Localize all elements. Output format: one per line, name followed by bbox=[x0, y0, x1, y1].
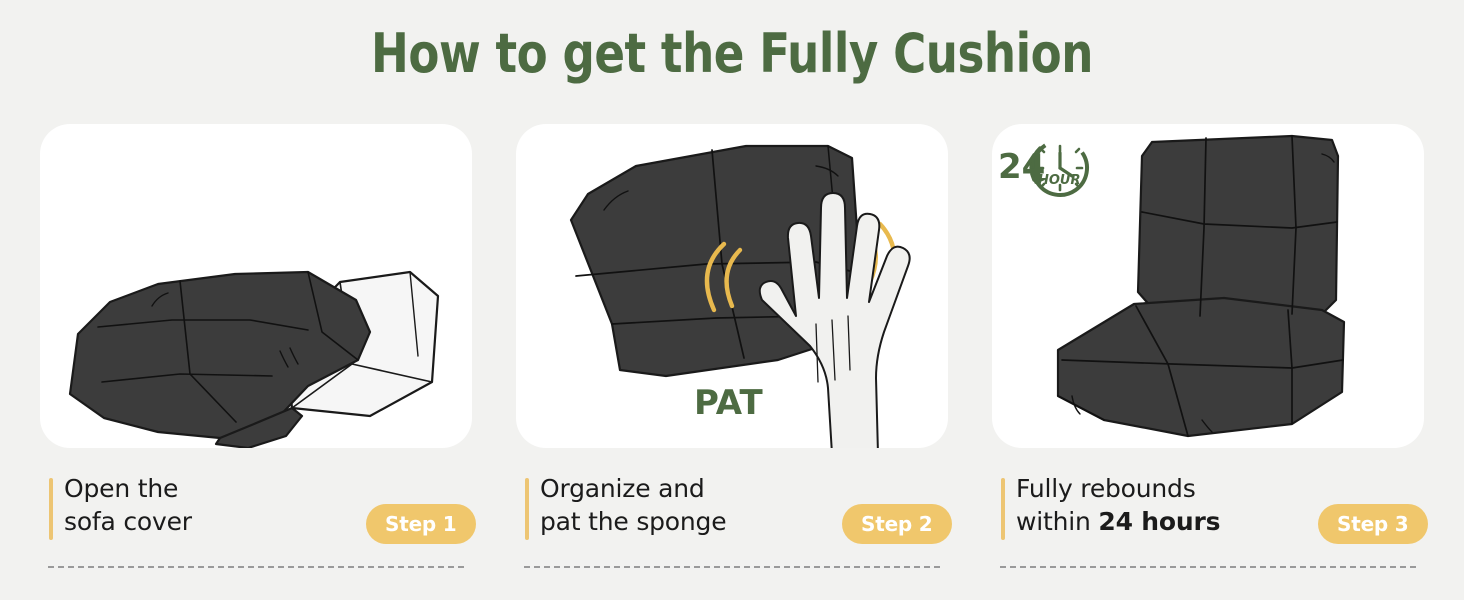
step-captions: Open the sofa cover Step 1 Organize and … bbox=[40, 470, 1424, 580]
caption-divider bbox=[524, 566, 940, 568]
accent-bar bbox=[49, 478, 53, 540]
infographic-page: How to get the Fully Cushion bbox=[0, 0, 1464, 600]
caption-line-2-prefix: within bbox=[1016, 507, 1098, 536]
caption-line-2: sofa cover bbox=[64, 507, 192, 536]
caption-text-step-1: Open the sofa cover bbox=[64, 472, 192, 538]
caption-divider bbox=[48, 566, 464, 568]
illustration-cards: PAT bbox=[40, 124, 1424, 448]
caption-step-3: Fully rebounds within 24 hours Step 3 bbox=[992, 470, 1424, 580]
clock-unit: HOUR bbox=[1038, 173, 1081, 188]
badge-step-3[interactable]: Step 3 bbox=[1318, 504, 1428, 544]
caption-line-1: Fully rebounds bbox=[1016, 474, 1196, 503]
card-step-1 bbox=[40, 124, 472, 448]
caption-step-1: Open the sofa cover Step 1 bbox=[40, 470, 472, 580]
badge-step-2[interactable]: Step 2 bbox=[842, 504, 952, 544]
caption-divider bbox=[1000, 566, 1416, 568]
caption-line-2-bold: 24 hours bbox=[1098, 507, 1220, 536]
clock-24-hour-icon: 24 HOUR bbox=[998, 130, 1098, 205]
caption-step-2: Organize and pat the sponge Step 2 bbox=[516, 470, 948, 580]
hand-patting-cushion-illustration: PAT bbox=[516, 124, 948, 448]
caption-line-1: Organize and bbox=[540, 474, 705, 503]
accent-bar bbox=[525, 478, 529, 540]
caption-line-2: pat the sponge bbox=[540, 507, 726, 536]
card-step-2: PAT bbox=[516, 124, 948, 448]
pat-label: PAT bbox=[694, 383, 763, 423]
accent-bar bbox=[1001, 478, 1005, 540]
page-title: How to get the Fully Cushion bbox=[51, 22, 1413, 85]
caption-text-step-3: Fully rebounds within 24 hours bbox=[1016, 472, 1220, 538]
card-step-3: 24 HOUR bbox=[992, 124, 1424, 448]
caption-text-step-2: Organize and pat the sponge bbox=[540, 472, 726, 538]
sofa-cover-removal-illustration bbox=[40, 124, 472, 448]
rebounded-chair-illustration: 24 HOUR bbox=[992, 124, 1424, 448]
caption-line-1: Open the bbox=[64, 474, 178, 503]
badge-step-1[interactable]: Step 1 bbox=[366, 504, 476, 544]
